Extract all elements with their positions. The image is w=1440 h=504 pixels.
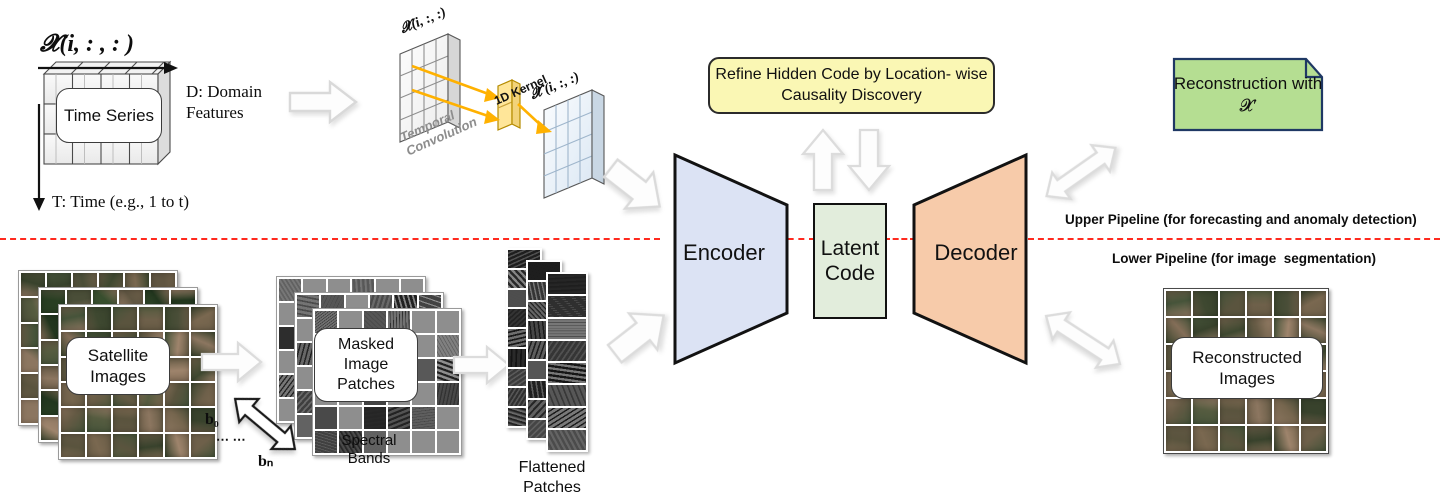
reconstructed-images-callout-label: Reconstructed Images xyxy=(1172,347,1322,390)
image-patch-cell xyxy=(191,383,215,406)
latent-code-box[interactable]: Latent Code xyxy=(813,203,887,319)
image-patch-cell xyxy=(1274,399,1299,424)
lower-pipeline-note: Lower Pipeline (for image segmentation) xyxy=(1112,251,1376,267)
image-patch-cell xyxy=(412,311,434,333)
band-dots-label: ⋯ ⋯ xyxy=(216,432,246,448)
image-patch-cell xyxy=(61,307,85,330)
image-patch-cell xyxy=(1274,426,1299,451)
flow-arrow-flattened-to-encoder xyxy=(604,298,676,370)
reconstructed-images-callout: Reconstructed Images xyxy=(1171,337,1323,399)
image-patch-cell xyxy=(315,407,337,429)
image-patch-cell xyxy=(437,383,459,405)
band-first-label: b₀ xyxy=(205,410,219,430)
flattened-patch-cell xyxy=(548,274,586,294)
image-patch-cell xyxy=(1193,399,1218,424)
image-patch-cell xyxy=(364,407,386,429)
image-patch-cell xyxy=(1301,291,1326,316)
image-patch-cell xyxy=(165,434,189,457)
image-patch-cell xyxy=(165,408,189,431)
image-patch-cell xyxy=(139,434,163,457)
reconstruction-note-label: Reconstruction with 𝓧′ xyxy=(1172,72,1324,116)
reconstruction-note: Reconstruction with 𝓧′ xyxy=(1172,57,1324,132)
refine-hidden-code-label: Refine Hidden Code by Location- wise Cau… xyxy=(710,65,993,107)
latent-code-label: Latent Code xyxy=(815,236,885,286)
image-patch-cell xyxy=(437,407,459,429)
flattened-patch-cell xyxy=(548,363,586,383)
flattened-patch-cell xyxy=(548,408,586,428)
domain-features-label: D: Domain Features xyxy=(186,82,262,123)
image-patch-cell xyxy=(1301,426,1326,451)
image-patch-cell xyxy=(139,307,163,330)
image-patch-cell xyxy=(1166,399,1191,424)
image-patch-cell xyxy=(1247,291,1272,316)
image-patch-cell xyxy=(1274,291,1299,316)
image-patch-cell xyxy=(437,311,459,333)
flattened-patches-group xyxy=(506,248,616,463)
flattened-column-front xyxy=(546,272,588,452)
image-patch-cell xyxy=(191,307,215,330)
masked-patches-callout: Masked Image Patches xyxy=(314,328,418,402)
image-patch-cell xyxy=(165,307,189,330)
image-patch-cell xyxy=(113,408,137,431)
bidirectional-arrow-upper xyxy=(1033,133,1129,211)
time-series-callout: Time Series xyxy=(56,88,162,143)
spectral-band-arrow xyxy=(222,388,308,460)
decoder-label: Decoder xyxy=(908,240,1030,266)
image-patch-cell xyxy=(1166,291,1191,316)
refine-up-arrow xyxy=(800,128,846,192)
spectral-bands-caption: Spectral Bands xyxy=(314,432,424,469)
encoder-shape[interactable]: Encoder xyxy=(671,152,791,366)
image-patch-cell xyxy=(87,307,111,330)
image-patch-cell xyxy=(61,408,85,431)
image-patch-cell xyxy=(339,407,361,429)
image-patch-cell xyxy=(113,434,137,457)
time-series-callout-label: Time Series xyxy=(64,105,154,126)
figure-canvas: 𝓧(i, : , : ) Time Series D: Domain Featu… xyxy=(0,0,1440,504)
flow-arrow-masked-to-flattened xyxy=(452,344,512,386)
pipeline-divider-left xyxy=(0,238,660,240)
pipeline-divider-right xyxy=(1028,238,1440,240)
image-patch-cell xyxy=(1220,426,1245,451)
band-last-label: bₙ xyxy=(258,452,273,472)
image-patch-cell xyxy=(113,307,137,330)
image-patch-cell xyxy=(1193,291,1218,316)
satellite-images-callout-label: Satellite Images xyxy=(67,345,169,388)
image-patch-cell xyxy=(1166,426,1191,451)
flow-arrow-satellite-to-masked xyxy=(200,340,264,384)
encoder-label: Encoder xyxy=(671,240,791,266)
refine-hidden-code-box: Refine Hidden Code by Location- wise Cau… xyxy=(708,57,995,114)
flattened-patch-cell xyxy=(548,296,586,316)
refine-down-arrow xyxy=(846,128,892,192)
time-axis-label: T: Time (e.g., 1 to t) xyxy=(52,192,189,213)
image-patch-cell xyxy=(1220,399,1245,424)
image-patch-cell xyxy=(139,408,163,431)
temporal-convolution-group xyxy=(386,18,626,218)
image-patch-cell xyxy=(1301,399,1326,424)
image-patch-cell xyxy=(412,407,434,429)
upper-pipeline-note: Upper Pipeline (for forecasting and anom… xyxy=(1065,212,1417,228)
image-patch-cell xyxy=(1247,426,1272,451)
image-patch-cell xyxy=(1247,399,1272,424)
flattened-patch-cell xyxy=(548,430,586,450)
image-patch-cell xyxy=(191,434,215,457)
domain-axis-arrow xyxy=(36,60,181,76)
bidirectional-arrow-lower xyxy=(1033,300,1133,380)
tensor-math-label: 𝓧(i, : , : ) xyxy=(40,30,134,59)
image-patch-cell xyxy=(1220,291,1245,316)
flattened-patches-caption: Flattened Patches xyxy=(492,458,612,497)
flattened-patch-cell xyxy=(548,319,586,339)
decoder-shape[interactable]: Decoder xyxy=(908,152,1030,366)
flattened-patch-cell xyxy=(548,341,586,361)
flow-arrow-conv-to-encoder xyxy=(600,152,672,224)
image-patch-cell xyxy=(1193,426,1218,451)
time-axis-arrow xyxy=(30,104,48,212)
image-patch-cell xyxy=(437,431,459,453)
image-patch-cell xyxy=(87,434,111,457)
image-patch-cell xyxy=(87,408,111,431)
image-patch-cell xyxy=(61,434,85,457)
image-patch-cell xyxy=(388,407,410,429)
masked-patches-callout-label: Masked Image Patches xyxy=(315,335,417,395)
flattened-patch-cell xyxy=(548,385,586,405)
flow-arrow-tensor-to-conv xyxy=(288,78,360,126)
satellite-images-callout: Satellite Images xyxy=(66,337,170,395)
